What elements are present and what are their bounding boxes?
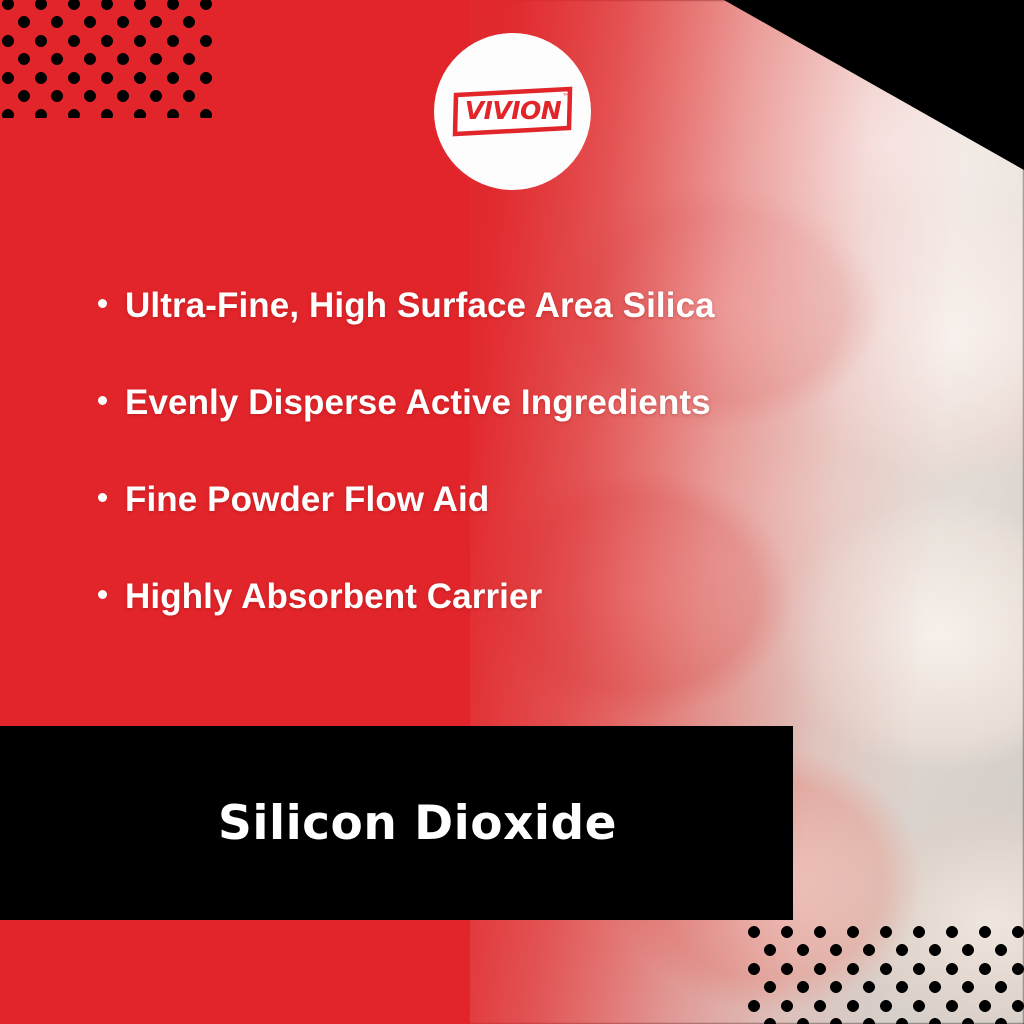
list-item: Evenly Disperse Active Ingredients	[98, 385, 818, 482]
svg-text:VIVION: VIVION	[464, 96, 561, 125]
list-item: Highly Absorbent Carrier	[98, 579, 818, 676]
poster-canvas: VIVION ™ Ultra-Fine, High Surface Area S…	[0, 0, 1024, 1024]
logo-badge[interactable]: VIVION ™	[434, 33, 591, 190]
feature-label: Fine Powder Flow Aid	[125, 482, 489, 517]
bullet-point-icon	[98, 299, 107, 308]
feature-label: Highly Absorbent Carrier	[125, 579, 542, 614]
page-title: Silicon Dioxide	[218, 796, 617, 851]
bullet-point-icon	[98, 590, 107, 599]
bullet-point-icon	[98, 493, 107, 502]
title-bar: Silicon Dioxide	[0, 726, 793, 920]
feature-list: Ultra-Fine, High Surface Area Silica Eve…	[98, 288, 818, 676]
list-item: Fine Powder Flow Aid	[98, 482, 818, 579]
bullet-point-icon	[98, 396, 107, 405]
dot-grid-icon-bottom-right	[746, 924, 1024, 1024]
feature-label: Evenly Disperse Active Ingredients	[125, 385, 711, 420]
list-item: Ultra-Fine, High Surface Area Silica	[98, 288, 818, 385]
svg-text:™: ™	[562, 92, 570, 101]
vivion-logo-icon: VIVION ™	[451, 86, 575, 138]
dot-grid-icon-top-left	[0, 0, 212, 118]
feature-label: Ultra-Fine, High Surface Area Silica	[125, 288, 715, 323]
